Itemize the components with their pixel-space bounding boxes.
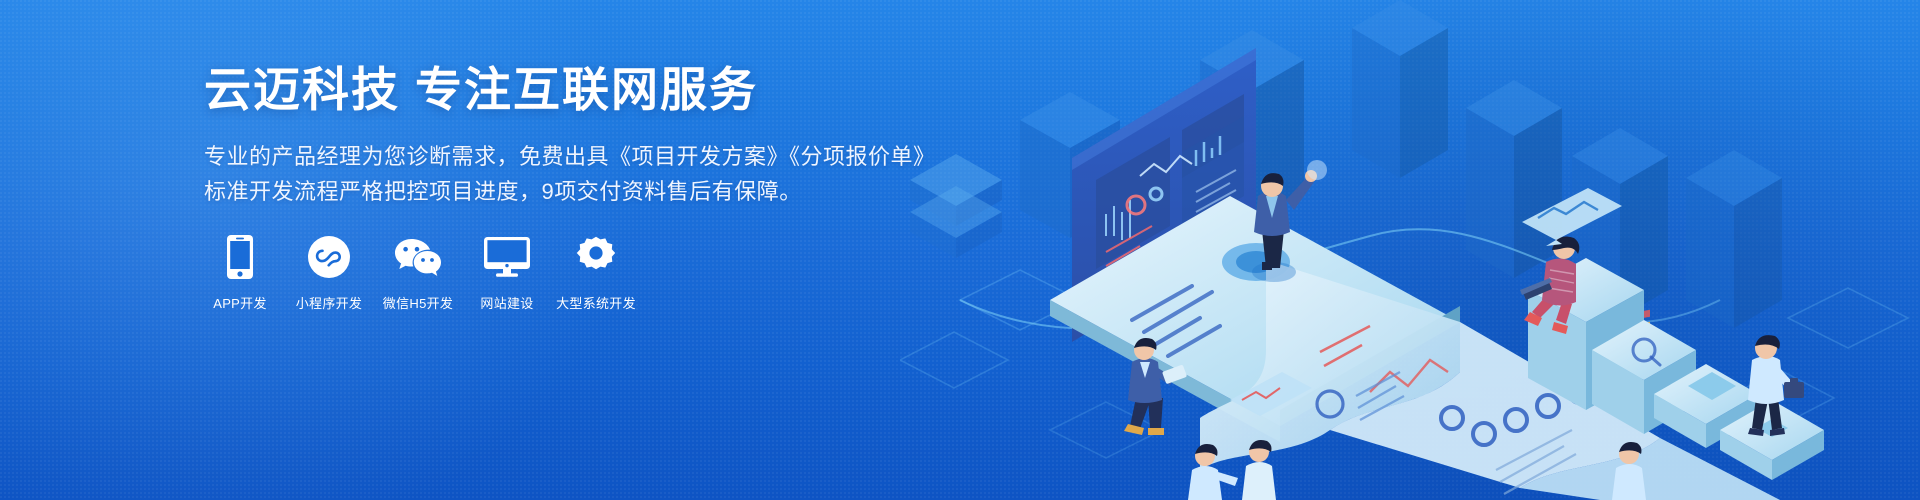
service-icon-strip: APP开发 小程序开发 (204, 234, 632, 312)
mini-program-icon (308, 234, 350, 280)
gear-icon (575, 234, 617, 280)
subtitle-line-2: 标准开发流程严格把控项目进度，9项交付资料售后有保障。 (204, 174, 964, 209)
illustration (900, 0, 1920, 500)
service-label-mini-program: 小程序开发 (296, 293, 363, 312)
service-label-app: APP开发 (213, 293, 267, 312)
service-label-website: 网站建设 (480, 293, 533, 312)
service-item-mini-program[interactable]: 小程序开发 (293, 234, 365, 312)
copy-block: 云迈科技 专注互联网服务 专业的产品经理为您诊断需求，免费出具《项目开发方案》《… (204, 66, 964, 209)
service-item-large-system[interactable]: 大型系统开发 (560, 234, 632, 312)
mobile-phone-icon (227, 234, 253, 280)
promo-banner: 云迈科技 专注互联网服务 专业的产品经理为您诊断需求，免费出具《项目开发方案》《… (0, 0, 1920, 500)
service-label-wechat-h5: 微信H5开发 (383, 293, 453, 312)
subtitle-block: 专业的产品经理为您诊断需求，免费出具《项目开发方案》《分项报价单》 标准开发流程… (204, 139, 964, 209)
monitor-icon (484, 234, 530, 280)
subtitle-line-1: 专业的产品经理为您诊断需求，免费出具《项目开发方案》《分项报价单》 (204, 139, 964, 174)
service-item-website[interactable]: 网站建设 (471, 234, 543, 312)
service-label-large-system: 大型系统开发 (556, 293, 636, 312)
service-item-app[interactable]: APP开发 (204, 234, 276, 312)
service-item-wechat-h5[interactable]: 微信H5开发 (382, 234, 454, 312)
page-title: 云迈科技 专注互联网服务 (204, 66, 964, 113)
wechat-icon (394, 234, 442, 280)
